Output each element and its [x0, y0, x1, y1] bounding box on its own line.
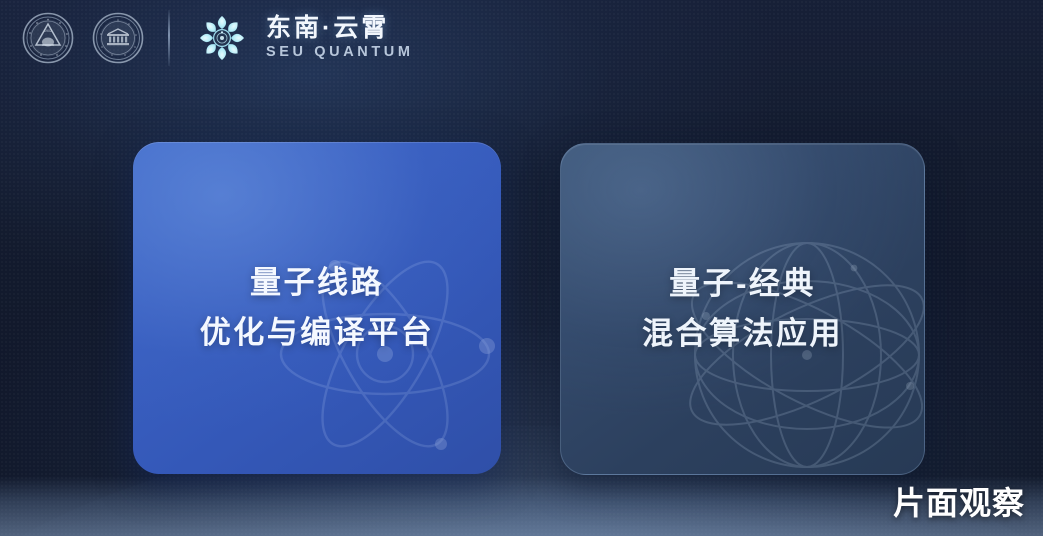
watermark-label: 片面观察: [893, 478, 1025, 524]
header-divider: [168, 10, 170, 66]
card-hybrid-algorithm-applications[interactable]: 量子-经典 混合算法应用: [560, 143, 925, 475]
card-title-line1: 量子线路: [250, 258, 384, 308]
slide-header: 1902: [0, 0, 414, 76]
seu-quantum-flower-icon: [192, 8, 252, 68]
seu-quantum-brand: 东南·云霄 SEU QUANTUM: [192, 8, 414, 68]
card-title-line1: 量子-经典: [669, 259, 816, 309]
card-title-line2: 优化与编译平台: [200, 308, 435, 358]
svg-text:1902: 1902: [44, 29, 52, 33]
background-floor-band: [0, 476, 1043, 536]
brand-name-cn: 东南·云霄: [266, 14, 414, 42]
slide-canvas: 1902: [0, 0, 1043, 536]
card-title-line2: 混合算法应用: [642, 309, 843, 359]
card-quantum-circuit-platform[interactable]: 量子线路 优化与编译平台: [133, 142, 501, 474]
institute-seal-icon: [92, 12, 144, 64]
university-seal-icon: 1902: [22, 12, 74, 64]
brand-name-en: SEU QUANTUM: [266, 44, 414, 61]
